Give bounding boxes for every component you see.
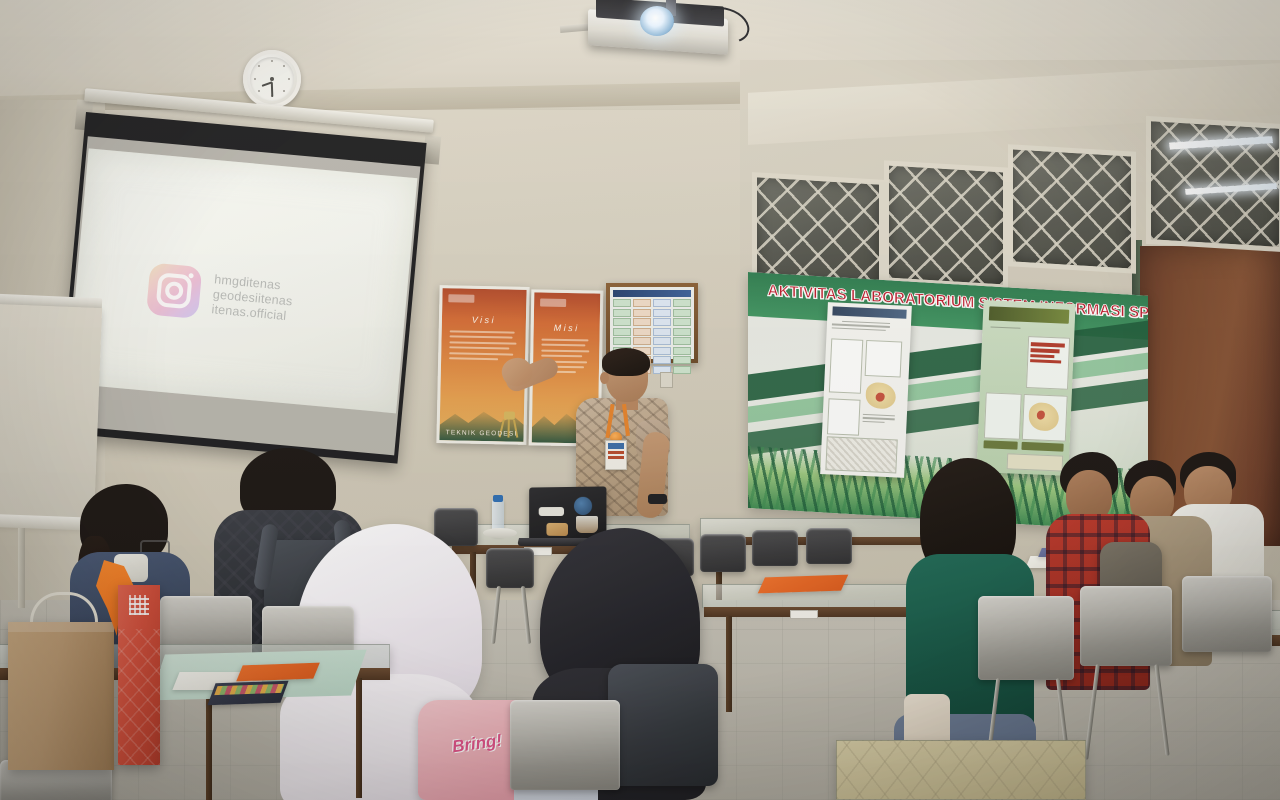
gift-box-logo: [129, 595, 149, 615]
poster-visi-title: Visi: [442, 314, 526, 326]
academic-poster-right: [976, 300, 1075, 476]
wall-socket: [660, 372, 673, 388]
academic-poster-left: [820, 302, 912, 478]
chair-right-2[interactable]: [1080, 586, 1172, 666]
window-grill-4: [1146, 116, 1280, 252]
lattice-grill-icon: [1013, 149, 1131, 268]
instagram-icon: [146, 262, 202, 318]
paper-bag[interactable]: [8, 622, 114, 770]
magazine[interactable]: [207, 681, 288, 705]
clock-face: [250, 57, 294, 101]
projection-screen: hmgditenas geodesiitenas itenas.official: [57, 112, 427, 464]
chair-row2-e[interactable]: [806, 528, 852, 564]
saucer: [483, 528, 517, 538]
tea-glass[interactable]: [576, 516, 598, 533]
chair-row2-d[interactable]: [752, 530, 798, 566]
wall-clock: [243, 50, 301, 108]
chair-front-right[interactable]: [510, 700, 620, 790]
presenter-watch: [648, 494, 667, 504]
orange-folder-right[interactable]: [758, 575, 849, 594]
window-grill-3: [1008, 144, 1136, 274]
backpack-front: [608, 664, 718, 786]
orange-folder-front[interactable]: [236, 663, 320, 682]
presenter-hair: [602, 348, 650, 376]
chair-right-1[interactable]: [978, 596, 1074, 680]
gift-box-pattern: [118, 629, 160, 765]
gift-box[interactable]: [118, 585, 160, 765]
chair-row2-a[interactable]: [486, 548, 534, 588]
projected-slide: hmgditenas geodesiitenas itenas.official: [67, 148, 417, 413]
chair-right-3[interactable]: [1182, 576, 1272, 652]
slide-content: hmgditenas geodesiitenas itenas.official: [146, 262, 295, 327]
poster-heading-band: [989, 306, 1070, 323]
projector-lens-icon: [640, 6, 674, 36]
flipchart-leg: [18, 528, 25, 608]
instagram-handle-list: hmgditenas geodesiitenas itenas.official: [211, 272, 294, 323]
bottle-cap: [493, 495, 503, 502]
poster-misi-title: Misi: [534, 322, 600, 333]
window-grill-2: [884, 160, 1008, 289]
pink-backpack-text: Bring!: [451, 731, 503, 758]
classroom-photo: hmgditenas geodesiitenas itenas.official…: [0, 0, 1280, 800]
flipchart-paper: [0, 304, 102, 526]
clock-center: [270, 77, 274, 81]
clock-minute-hand: [271, 82, 273, 97]
id-badge: [605, 440, 627, 470]
presenter-ear: [600, 372, 609, 384]
paper-bag-fold: [8, 622, 114, 632]
lattice-grill-icon: [889, 166, 1003, 285]
chair-row2-c[interactable]: [700, 534, 746, 572]
chart-title-band: [613, 290, 691, 297]
desk-bottom-right: [836, 740, 1086, 800]
